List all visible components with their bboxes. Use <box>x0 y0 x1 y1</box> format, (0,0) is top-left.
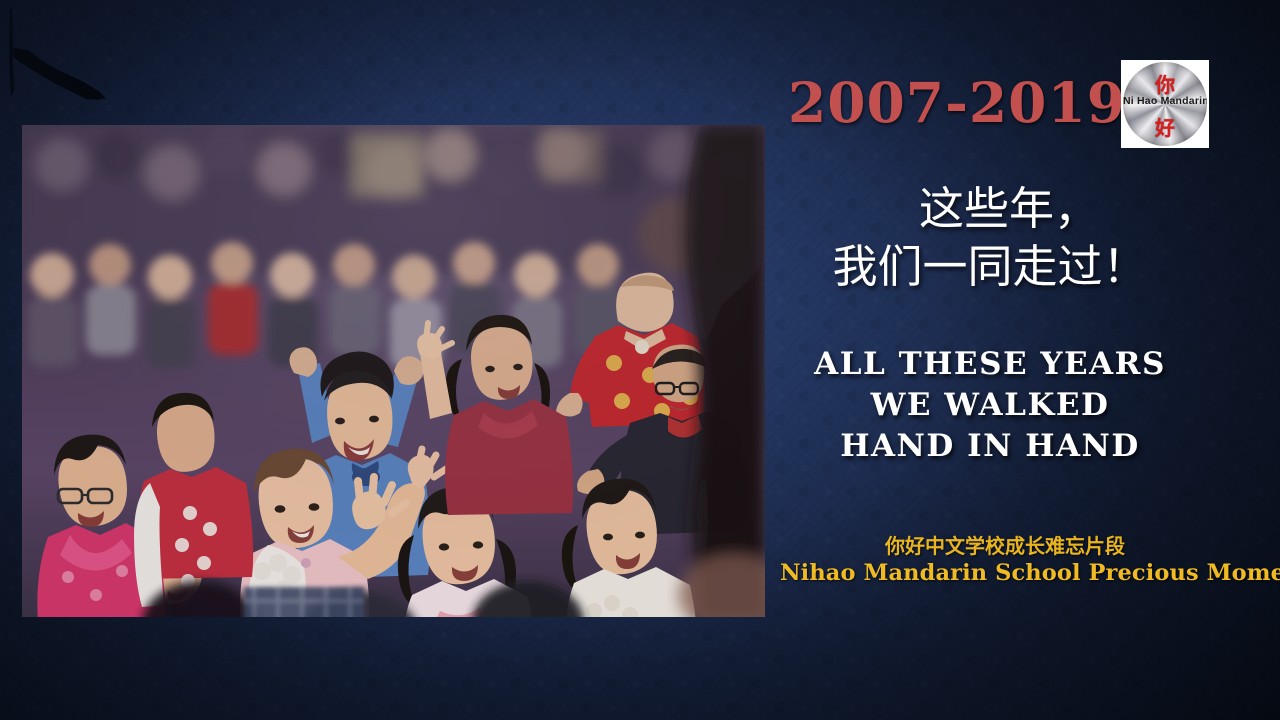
logo-name-text: Ni Hao Mandarin <box>1123 95 1207 107</box>
event-photo: Crowd of children and adults celebrating <box>22 125 765 617</box>
footer-english-text: Nihao Mandarin School Precious Moments <box>780 559 1230 587</box>
text-column: 2007-2019 你 Ni Hao Mandarin 好 这些年， 我们一同走… <box>780 0 1280 720</box>
english-headline: ALL THESE YEARS WE WALKED HAND IN HAND <box>780 344 1200 468</box>
chinese-headline: 这些年， 我们一同走过！ <box>780 180 1200 295</box>
presentation-slide: Crowd of children and adults celebrating <box>0 0 1280 720</box>
year-range-heading: 2007-2019 <box>788 75 1108 130</box>
school-logo: 你 Ni Hao Mandarin 好 <box>1121 60 1209 148</box>
english-headline-line1: ALL THESE YEARS <box>780 344 1200 385</box>
footer-chinese-text: 你好中文学校成长难忘片段 <box>780 534 1230 559</box>
logo-metal-disc: 你 Ni Hao Mandarin 好 <box>1123 62 1207 146</box>
logo-chinese-bottom: 好 <box>1123 118 1207 138</box>
chinese-headline-line1: 这些年， <box>780 180 1200 238</box>
logo-chinese-top: 你 <box>1123 75 1207 95</box>
english-headline-line3: HAND IN HAND <box>780 426 1200 467</box>
english-headline-line2: WE WALKED <box>780 385 1200 426</box>
footer-block: 你好中文学校成长难忘片段 Nihao Mandarin School Preci… <box>780 534 1230 587</box>
chinese-headline-line2: 我们一同走过！ <box>780 238 1200 296</box>
